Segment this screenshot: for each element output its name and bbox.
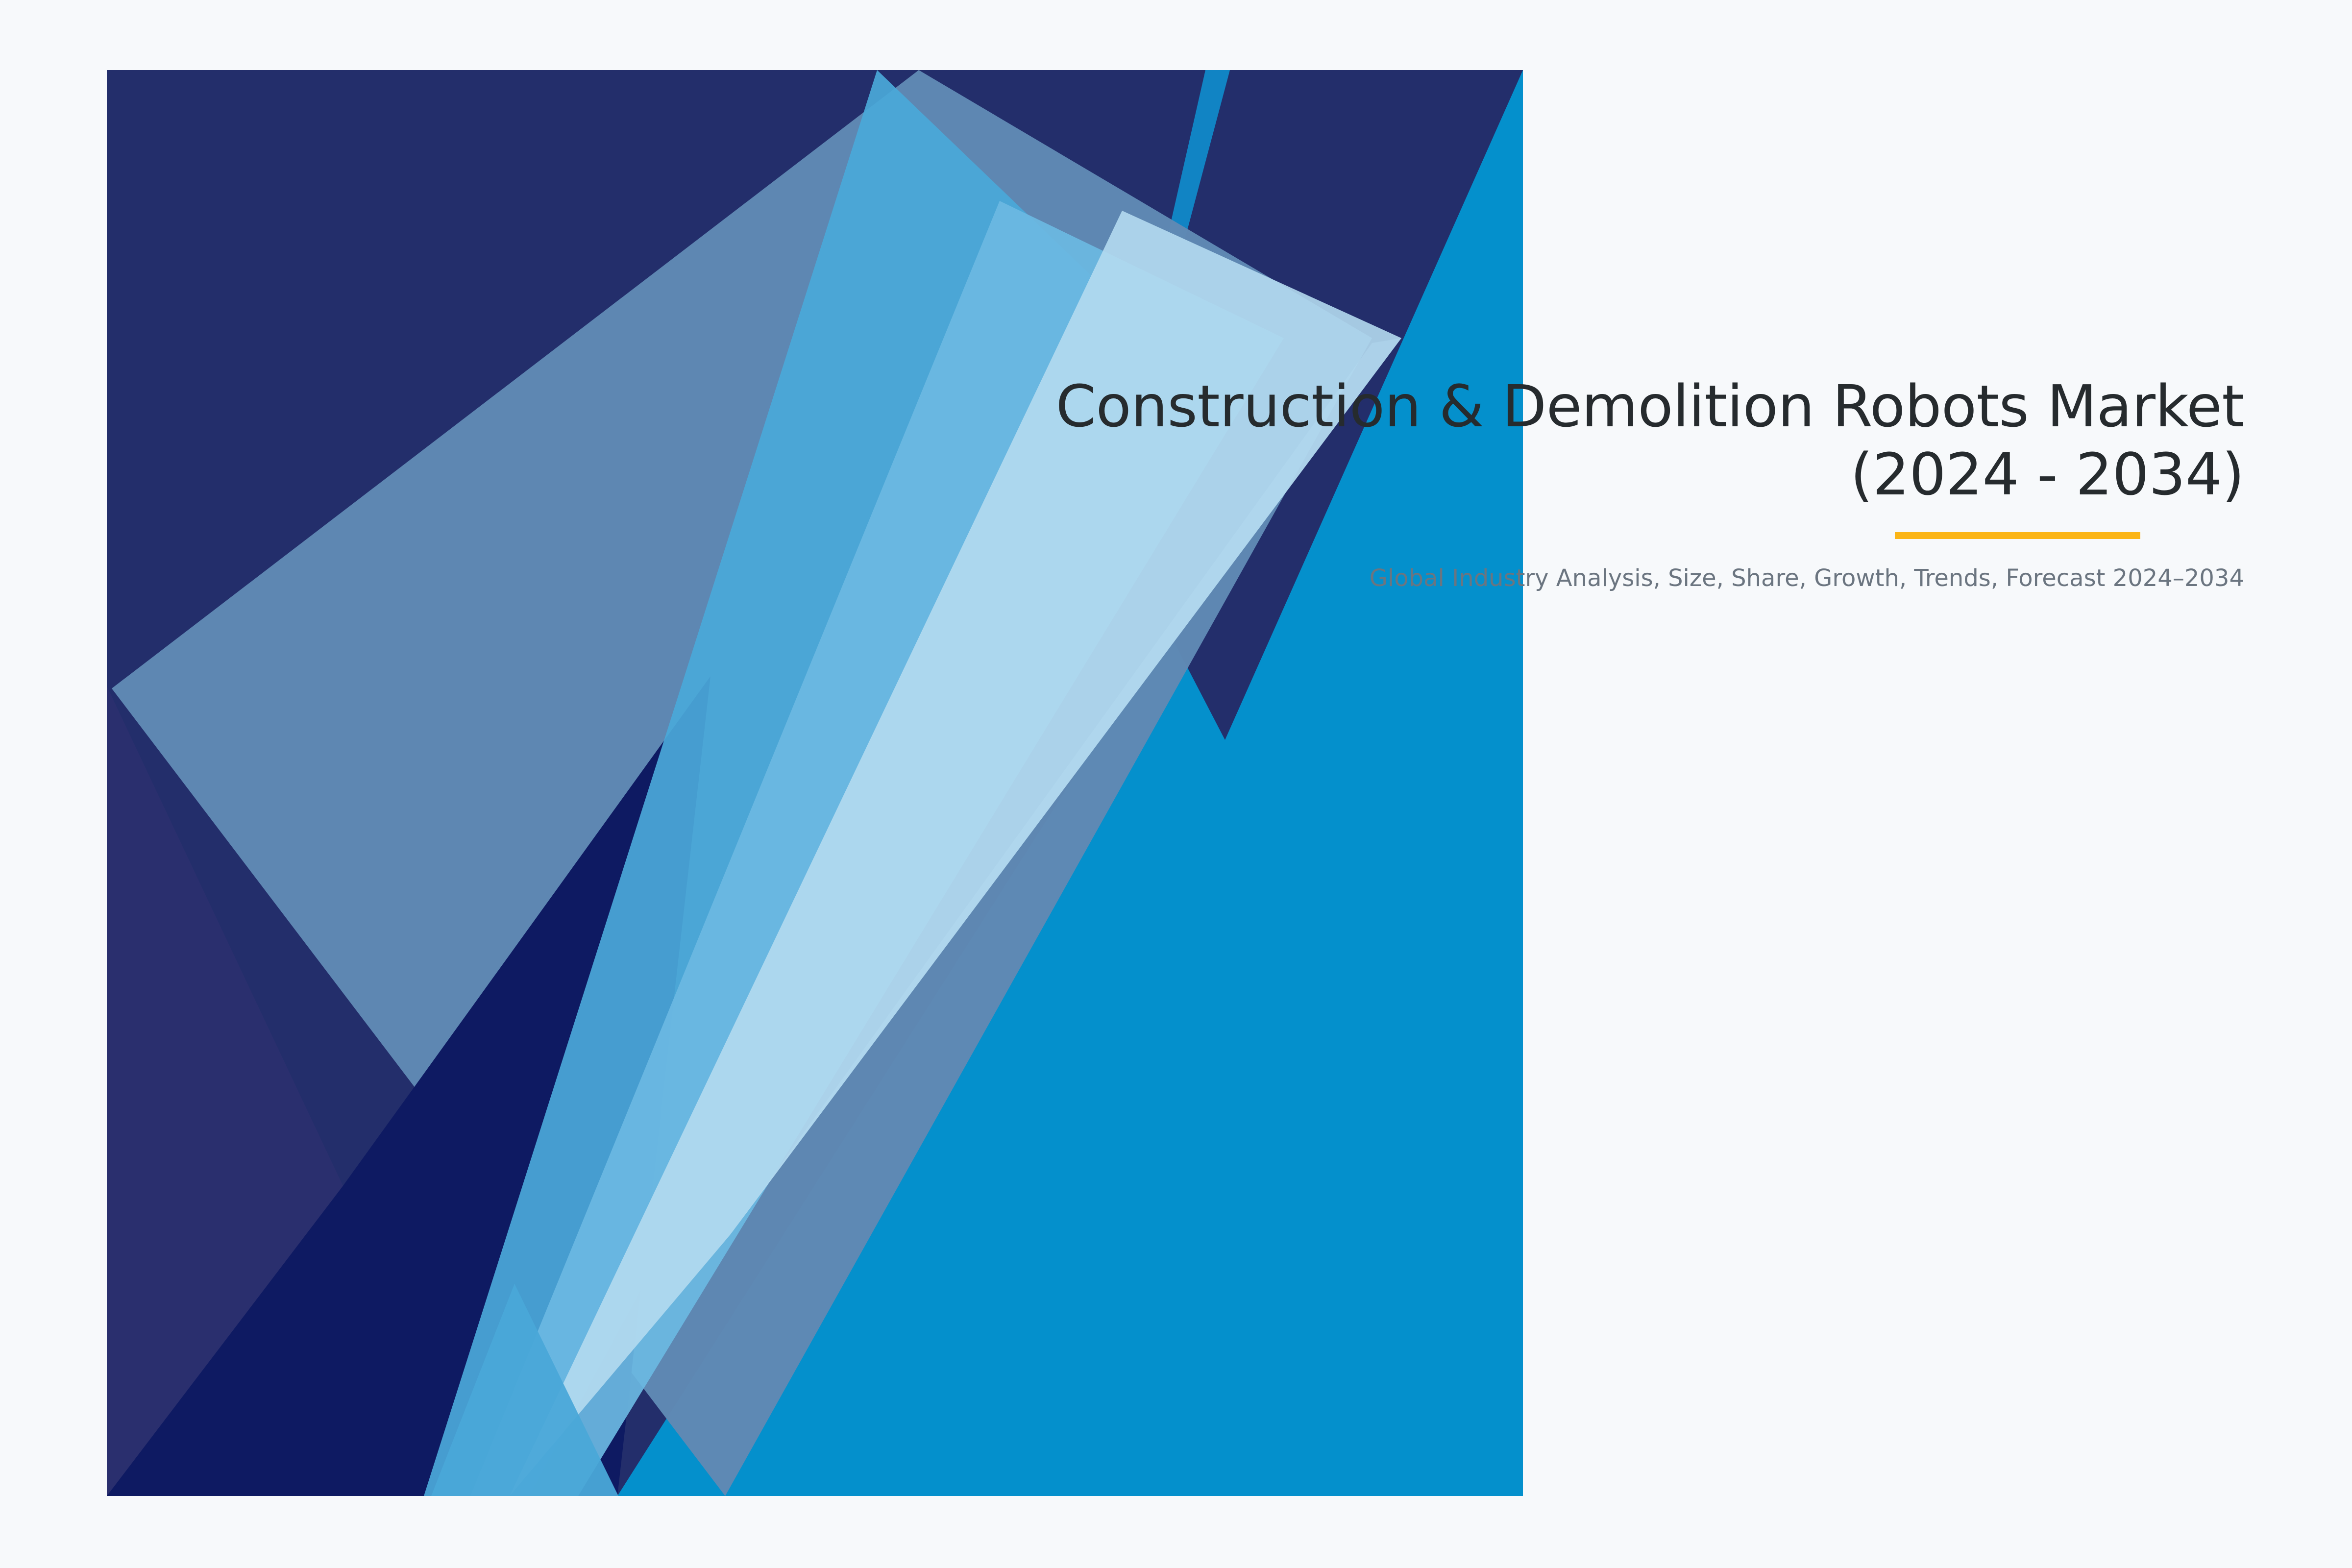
shape-cyan-base [107,70,1523,1496]
abstract-geometric-artwork [0,0,2352,1568]
cover-text-block: Construction & Demolition Robots Market … [921,372,2244,595]
page-subtitle: Global Industry Analysis, Size, Share, G… [921,562,2244,595]
shape-dark-navy-v [107,676,710,1496]
title-accent-underline [1895,532,2140,539]
shape-slate-quad [112,70,1372,1496]
shape-navy-lower-left [107,686,343,1496]
shape-navy-wedge-left [107,70,1523,1496]
shape-sky-bottom-accent [431,1284,618,1496]
page-title: Construction & Demolition Robots Market … [921,372,2244,509]
report-cover-page: Construction & Demolition Robots Market … [0,0,2352,1568]
shape-sky-band [424,70,1156,1496]
